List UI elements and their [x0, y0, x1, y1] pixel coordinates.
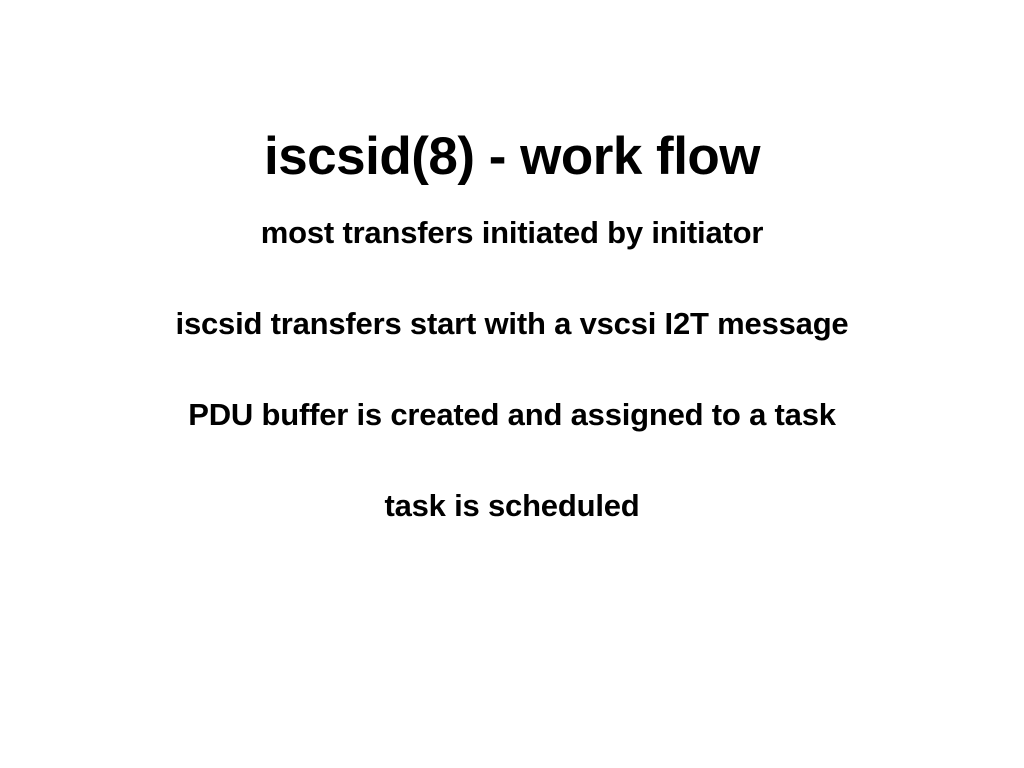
body-line-4: task is scheduled	[0, 487, 1024, 578]
presentation-slide: iscsid(8) - work flow most transfers ini…	[0, 0, 1024, 768]
body-line-3: PDU buffer is created and assigned to a …	[0, 396, 1024, 487]
slide-title: iscsid(8) - work flow	[0, 129, 1024, 185]
slide-body: most transfers initiated by initiator is…	[0, 214, 1024, 578]
body-line-2: iscsid transfers start with a vscsi I2T …	[0, 305, 1024, 396]
body-line-1: most transfers initiated by initiator	[0, 214, 1024, 305]
